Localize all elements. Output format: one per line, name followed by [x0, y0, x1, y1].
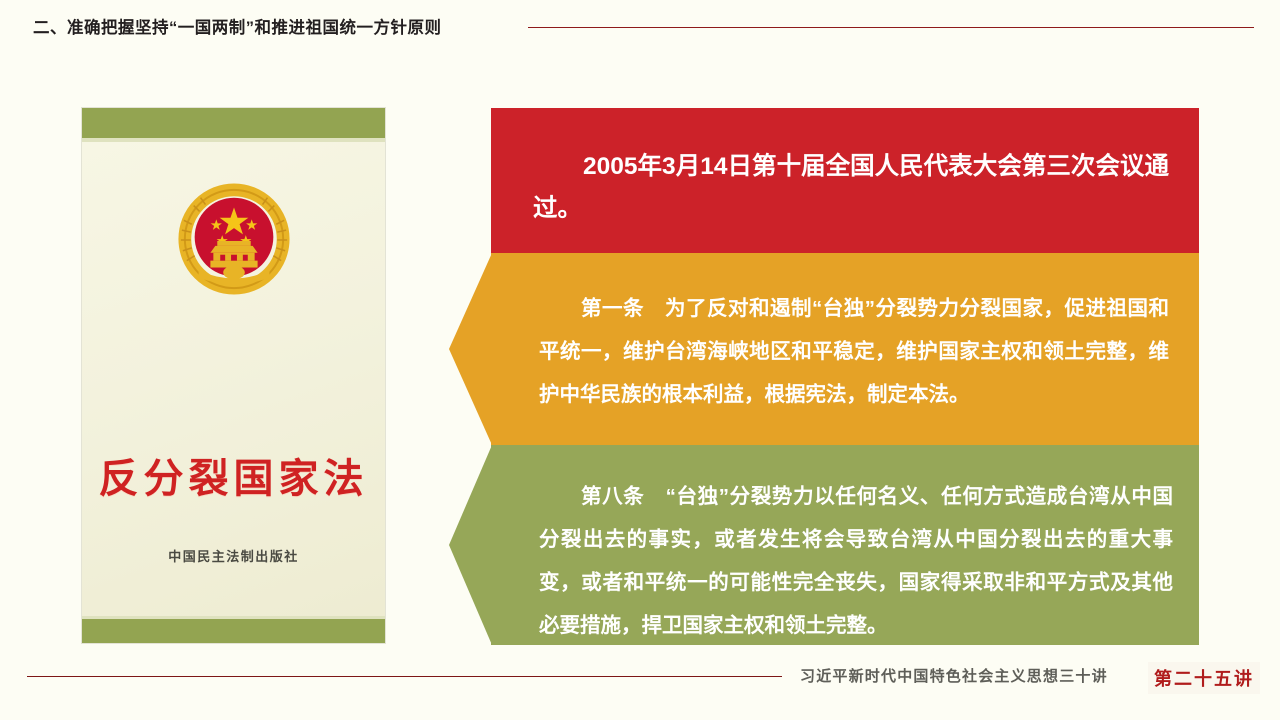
article-one-text: 第一条 为了反对和遏制“台独”分裂势力分裂国家，促进祖国和平统一，维护台湾海峡地… [491, 287, 1199, 416]
band-promulgation: 2005年3月14日第十届全国人民代表大会第三次会议通过。 [491, 108, 1199, 253]
book-top-band [82, 108, 385, 138]
header-divider-rule [528, 27, 1254, 28]
chevron-left-icon-green [449, 445, 492, 645]
book-title: 反分裂国家法 [82, 446, 385, 504]
law-excerpt-panel: 2005年3月14日第十届全国人民代表大会第三次会议通过。 第一条 为了反对和遏… [449, 108, 1199, 645]
band-article-one: 第一条 为了反对和遏制“台独”分裂势力分裂国家，促进祖国和平统一，维护台湾海峡地… [491, 253, 1199, 445]
book-bottom-band [82, 619, 385, 643]
article-eight-text: 第八条 “台独”分裂势力以任何名义、任何方式造成台湾从中国分裂出去的事实，或者发… [491, 475, 1199, 647]
lecture-number-badge: 第二十五讲 [1148, 662, 1260, 694]
footer-subtitle: 习近平新时代中国特色社会主义思想三十讲 [800, 665, 1108, 686]
chevron-left-icon-orange [449, 253, 492, 445]
book-publisher: 中国民主法制出版社 [82, 546, 385, 565]
book-cover-image: 反分裂国家法 中国民主法制出版社 [82, 108, 385, 643]
band-article-eight: 第八条 “台独”分裂势力以任何名义、任何方式造成台湾从中国分裂出去的事实，或者发… [491, 445, 1199, 645]
slide-header: 二、准确把握坚持“一国两制”和推进祖国统一方针原则 [0, 0, 1280, 52]
footer-divider-rule [27, 676, 782, 677]
national-emblem-icon [175, 180, 293, 298]
slide-footer: 习近平新时代中国特色社会主义思想三十讲 第二十五讲 [0, 662, 1280, 720]
page-title: 二、准确把握坚持“一国两制”和推进祖国统一方针原则 [33, 14, 442, 38]
promulgation-text: 2005年3月14日第十届全国人民代表大会第三次会议通过。 [491, 146, 1199, 230]
